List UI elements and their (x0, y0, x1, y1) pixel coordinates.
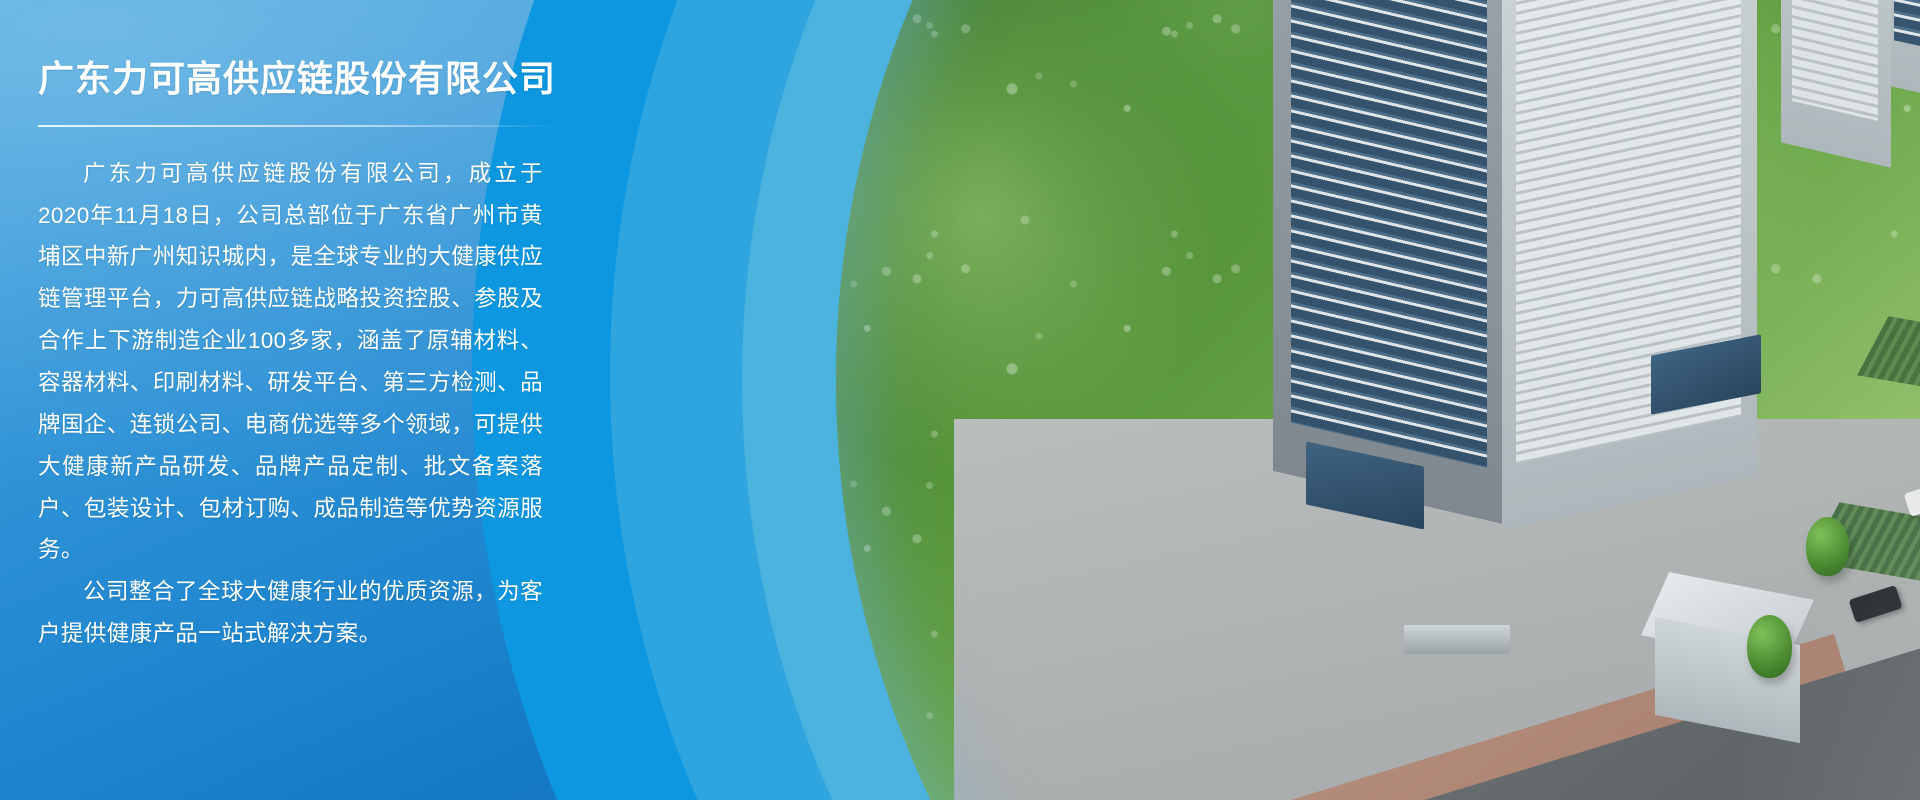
tree (1747, 615, 1792, 678)
title-divider-rule (38, 125, 558, 127)
facility-photo-disc (836, 0, 1920, 800)
company-description: 广东力可高供应链股份有限公司，成立于2020年11月18日，公司总部位于广东省广… (38, 153, 543, 655)
site-signage-plaque (1404, 625, 1510, 654)
tree (1806, 517, 1849, 576)
paragraph-company-overview: 广东力可高供应链股份有限公司，成立于2020年11月18日，公司总部位于广东省广… (38, 153, 543, 571)
paragraph-company-solution: 公司整合了全球大健康行业的优质资源，为客户提供健康产品一站式解决方案。 (38, 571, 543, 655)
intro-text-column: 广东力可高供应链股份有限公司 广东力可高供应链股份有限公司，成立于2020年11… (0, 0, 620, 800)
page-title: 广东力可高供应链股份有限公司 (38, 56, 620, 103)
building-middle-tower-windows (1792, 0, 1878, 121)
company-intro-banner: 广东力可高供应链股份有限公司 广东力可高供应链股份有限公司，成立于2020年11… (0, 0, 1920, 800)
building-front-curtain-wall (1291, 0, 1487, 467)
aerial-facility-photo (836, 0, 1920, 800)
